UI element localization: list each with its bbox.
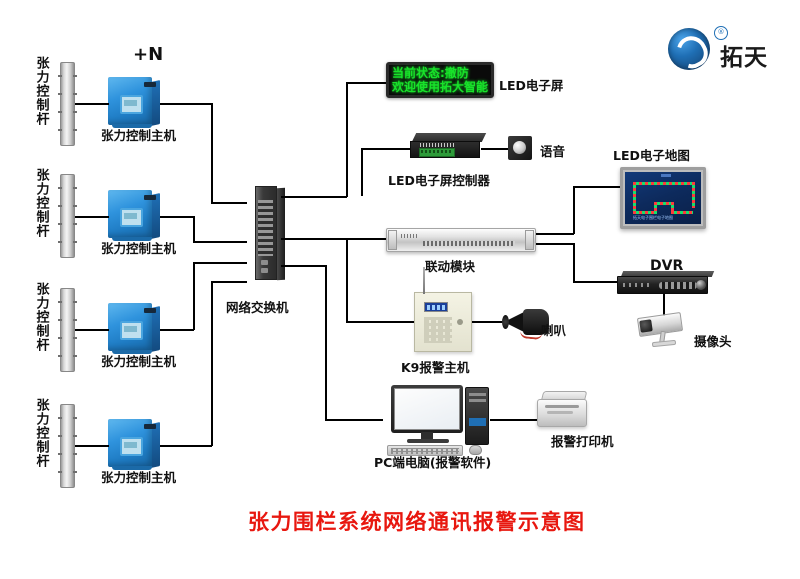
wire-switch-pc-h1 [281, 265, 327, 267]
wire-host1-bus [160, 103, 212, 105]
wire-trunk-ledctrl [361, 148, 410, 150]
led-map-label: LED电子地图 [613, 145, 690, 164]
wire-pole1-host1 [75, 103, 109, 105]
tension-control-host-2 [108, 190, 160, 238]
pc-label: PC端电脑(报警软件) [374, 452, 491, 471]
led-display-line2: 欢迎使用拓大智能 [392, 80, 488, 94]
k9-alarm-host-label: K9报警主机 [401, 357, 469, 376]
wire-bus4-vertical [211, 281, 213, 446]
tension-pole-1 [60, 62, 75, 146]
wire-bus1-vertical [211, 103, 213, 203]
led-electronic-map: 拓天电子围栏电子地图 [620, 167, 706, 229]
wire-switch-k9-v [346, 238, 348, 322]
wire-pole4-host4 [75, 445, 109, 447]
wire-linkage-dvr-h [536, 243, 574, 245]
alarm-printer [537, 391, 591, 429]
wire-trunk-vertical-up [346, 82, 348, 197]
tension-host-label-3: 张力控制主机 [101, 351, 176, 370]
pole-label-2: 张力控制杆 [33, 168, 48, 238]
diagram-canvas: ® 拓天 张力控制杆 张力控制杆 张力控制杆 张力控制杆 +N 张力控制主机 [0, 0, 800, 579]
wire-bus3-switch [193, 262, 247, 264]
led-display-label: LED电子屏 [499, 75, 563, 94]
wire-linkage-map-v [573, 186, 575, 234]
led-display-line1: 当前状态:撤防 [392, 66, 488, 80]
printer-label: 报警打印机 [551, 431, 614, 450]
led-map-caption: 拓天电子围栏电子地图 [633, 215, 673, 221]
wire-host4-bus [160, 445, 212, 447]
wire-bus1-switch [211, 202, 247, 204]
wire-map-in [573, 186, 621, 188]
wire-switch-trunk-top [281, 196, 347, 198]
led-display-screen: 当前状态:撤防 欢迎使用拓大智能 [386, 62, 494, 98]
tension-control-host-3 [108, 303, 160, 351]
k9-alarm-host [414, 292, 472, 352]
voice-device [508, 136, 532, 160]
dvr-device [617, 271, 713, 295]
wire-trunk-led-screen [346, 82, 386, 84]
wire-linkage-map-h [536, 233, 574, 235]
tension-host-label-2: 张力控制主机 [101, 238, 176, 257]
plus-n-label: +N [133, 44, 163, 65]
pole-label-3: 张力控制杆 [33, 282, 48, 352]
camera-label: 摄像头 [694, 331, 732, 350]
wire-switch-k9-h [346, 321, 414, 323]
led-controller-label: LED电子屏控制器 [388, 170, 490, 189]
horn-label: 喇叭 [541, 320, 566, 339]
wire-bus2-vertical [193, 216, 195, 242]
wire-switch-linkage [281, 238, 386, 240]
network-switch-label: 网络交换机 [226, 297, 289, 316]
wire-switch-pc-v [325, 265, 327, 420]
camera-device [634, 311, 696, 353]
tension-pole-3 [60, 288, 75, 372]
wire-trunk-vertical-ledctrl [361, 148, 363, 196]
linkage-module-label: 联动模块 [425, 256, 475, 275]
pole-label-4: 张力控制杆 [33, 398, 48, 468]
wire-dvr-in [573, 281, 617, 283]
brand-name: 拓天 [720, 38, 768, 72]
pc-workstation [383, 385, 513, 457]
wire-pole2-host2 [75, 216, 109, 218]
wire-pole3-host3 [75, 329, 109, 331]
wire-bus3-vertical [193, 262, 195, 330]
wire-host3-bus [160, 329, 194, 331]
tension-host-label-1: 张力控制主机 [101, 125, 176, 144]
wire-host2-bus [160, 216, 194, 218]
tension-control-host-1 [108, 77, 160, 125]
wire-bus2-switch [193, 241, 247, 243]
pole-label-1: 张力控制杆 [33, 56, 48, 126]
led-screen-controller [410, 133, 484, 159]
diagram-title: 张力围栏系统网络通讯报警示意图 [248, 506, 586, 536]
tension-pole-4 [60, 404, 75, 488]
wire-ledctrl-voice [481, 148, 510, 150]
wire-switch-pc-h2 [325, 419, 383, 421]
linkage-module [386, 228, 536, 252]
voice-label: 语音 [540, 141, 565, 160]
wire-linkage-dvr-v [573, 243, 575, 282]
tension-host-label-4: 张力控制主机 [101, 467, 176, 486]
brand-emblem-icon [668, 28, 710, 70]
wire-bus4-switch [211, 281, 247, 283]
tension-pole-2 [60, 174, 75, 258]
tension-control-host-4 [108, 419, 160, 467]
